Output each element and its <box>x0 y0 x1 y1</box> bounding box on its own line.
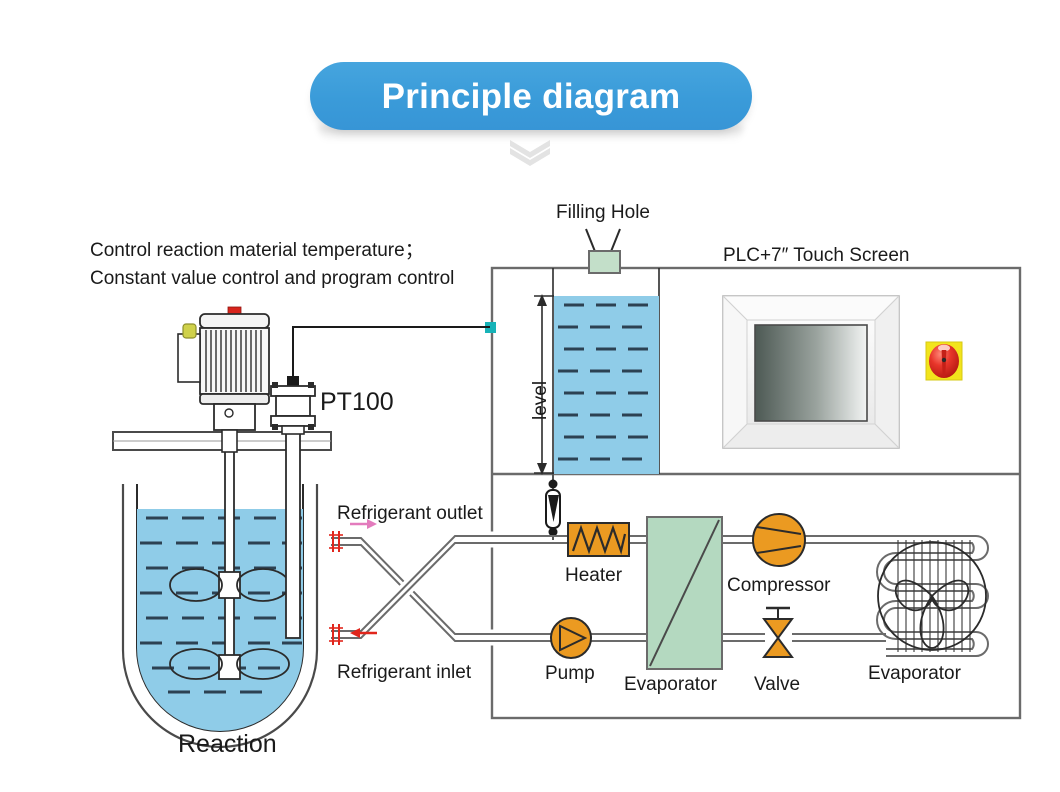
coolant-tank <box>553 268 659 474</box>
pt100-label: PT100 <box>320 386 394 420</box>
filling-hole-cap <box>589 251 620 273</box>
filling-hole-assembly <box>586 229 620 273</box>
motor-junction-box <box>178 334 200 382</box>
pt100-thermowell <box>286 430 300 638</box>
refrigerant-inlet-label: Refrigerant inlet <box>337 660 471 686</box>
plc-touch-screen-label: PLC+7″ Touch Screen <box>723 243 909 269</box>
agitator-motor[interactable] <box>178 307 269 452</box>
heater-element <box>568 523 629 556</box>
emergency-stop-switch[interactable] <box>926 342 962 380</box>
reaction-label: Reaction <box>178 728 277 762</box>
principle-diagram-canvas: Principle diagram Control reaction mater… <box>0 0 1060 792</box>
heater-label: Heater <box>565 563 622 589</box>
pump-label: Pump <box>545 661 595 687</box>
motor-terminal-box <box>228 307 241 314</box>
valve-label: Valve <box>754 672 800 698</box>
compressor <box>753 514 805 566</box>
level-label: level <box>528 381 554 420</box>
refrigerant-outlet-label: Refrigerant outlet <box>337 501 483 527</box>
coolant-pump <box>551 618 591 658</box>
motor-capacitor <box>183 324 196 338</box>
compressor-label: Compressor <box>727 573 830 599</box>
hmi-display-area <box>755 325 867 421</box>
tank-liquid <box>554 296 659 474</box>
pt100-sensor <box>271 376 315 434</box>
filling-hole-label: Filling Hole <box>556 200 650 226</box>
plate-evaporator-label: Evaporator <box>624 672 717 698</box>
coil-evaporator-label: Evaporator <box>868 661 961 687</box>
pt100-signal-wire <box>293 327 490 385</box>
plate-evaporator <box>647 517 722 669</box>
touch-screen-panel[interactable] <box>723 296 899 448</box>
